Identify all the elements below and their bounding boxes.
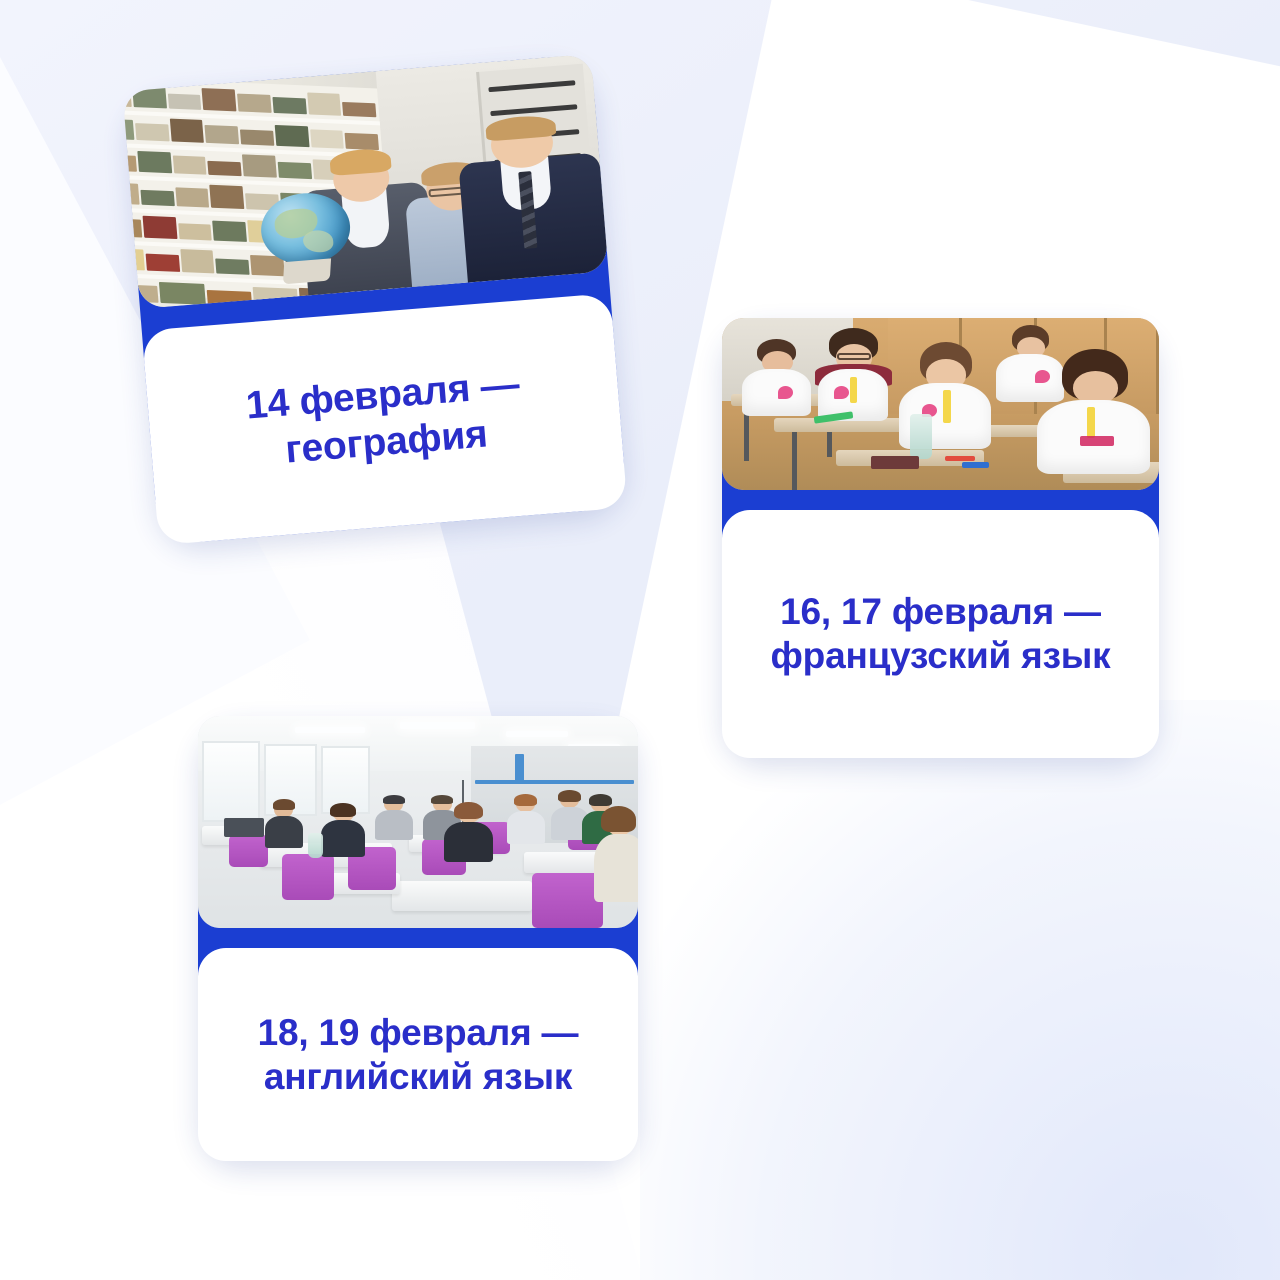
table	[392, 881, 533, 911]
library-globe-photo	[123, 54, 609, 309]
attendee-hair	[454, 802, 483, 820]
water-bottle	[910, 414, 932, 459]
student	[739, 339, 813, 415]
card-french-label: 16, 17 февраля — французский язык	[722, 510, 1159, 758]
attendee-hair	[589, 794, 612, 806]
attendee	[321, 805, 365, 856]
chair	[282, 854, 335, 901]
ceiling-light	[295, 727, 365, 733]
pencil	[945, 456, 976, 461]
attendee-hair	[601, 806, 636, 833]
tshirt-logo-dot	[834, 386, 849, 399]
attendee-body	[321, 820, 365, 857]
card-geography-inner: 14 февраля — география	[123, 54, 628, 545]
student-shirt	[742, 369, 810, 416]
wall-stripe	[475, 780, 633, 785]
pencil	[962, 462, 988, 467]
chair	[229, 835, 269, 867]
laptop	[224, 818, 264, 837]
card-geography-label: 14 февраля — география	[142, 293, 628, 545]
ceiling-light	[400, 722, 475, 728]
attendee-body	[444, 822, 492, 863]
window	[202, 741, 259, 822]
tshirt-logo-dot	[778, 386, 793, 399]
lanyard	[850, 377, 857, 404]
attendee-hair	[558, 790, 581, 802]
wall-stripe	[515, 754, 524, 784]
poster-canvas: 14 февраля — география	[0, 0, 1280, 1280]
exam-classroom-illustration	[722, 318, 1159, 490]
card-french[interactable]: 16, 17 февраля — французский язык	[722, 318, 1159, 758]
notebook	[871, 456, 919, 470]
attendee-body	[265, 816, 303, 849]
attendee	[444, 805, 492, 860]
lanyard	[943, 390, 951, 423]
globe-stand	[283, 259, 331, 285]
card-french-label-text: 16, 17 февраля — французский язык	[761, 590, 1121, 677]
card-english-inner: 18, 19 февраля — английский язык	[198, 716, 638, 1161]
chair	[532, 873, 602, 928]
student	[809, 328, 896, 417]
card-geography-label-text: 14 февраля — география	[234, 361, 534, 476]
background-tint-bottom-right	[640, 700, 1280, 1280]
lecture-room-illustration	[198, 716, 638, 928]
attendee	[506, 797, 546, 844]
attendee-hair	[330, 803, 356, 817]
lanyard	[1087, 407, 1095, 438]
attendee-foreground	[594, 809, 638, 898]
attendee-body	[507, 811, 545, 844]
card-french-inner: 16, 17 февраля — французский язык	[722, 318, 1159, 758]
attendee-body	[594, 834, 638, 902]
exam-classroom-photo	[722, 318, 1159, 490]
ceiling-light	[506, 731, 568, 737]
water-bottle	[308, 833, 323, 858]
attendee-hair	[514, 794, 537, 806]
attendee-hair	[383, 795, 405, 804]
student	[1037, 349, 1151, 469]
tshirt-logo-text	[1080, 436, 1114, 447]
attendee	[264, 801, 304, 848]
attendee-hair	[431, 795, 453, 804]
library-globe-illustration	[123, 54, 609, 309]
student-glasses	[837, 353, 870, 359]
card-english-label-text: 18, 19 февраля — английский язык	[248, 1011, 589, 1098]
person-student-tie	[455, 110, 608, 282]
card-english[interactable]: 18, 19 февраля — английский язык	[198, 716, 638, 1161]
attendee-body	[375, 810, 413, 840]
lecture-room-photo	[198, 716, 638, 928]
attendee-hair	[273, 799, 295, 810]
desk-leg	[792, 432, 797, 490]
attendee	[374, 797, 414, 839]
card-english-label: 18, 19 февраля — английский язык	[198, 948, 638, 1161]
cabinet-line	[489, 80, 576, 92]
card-geography[interactable]: 14 февраля — география	[123, 54, 628, 545]
